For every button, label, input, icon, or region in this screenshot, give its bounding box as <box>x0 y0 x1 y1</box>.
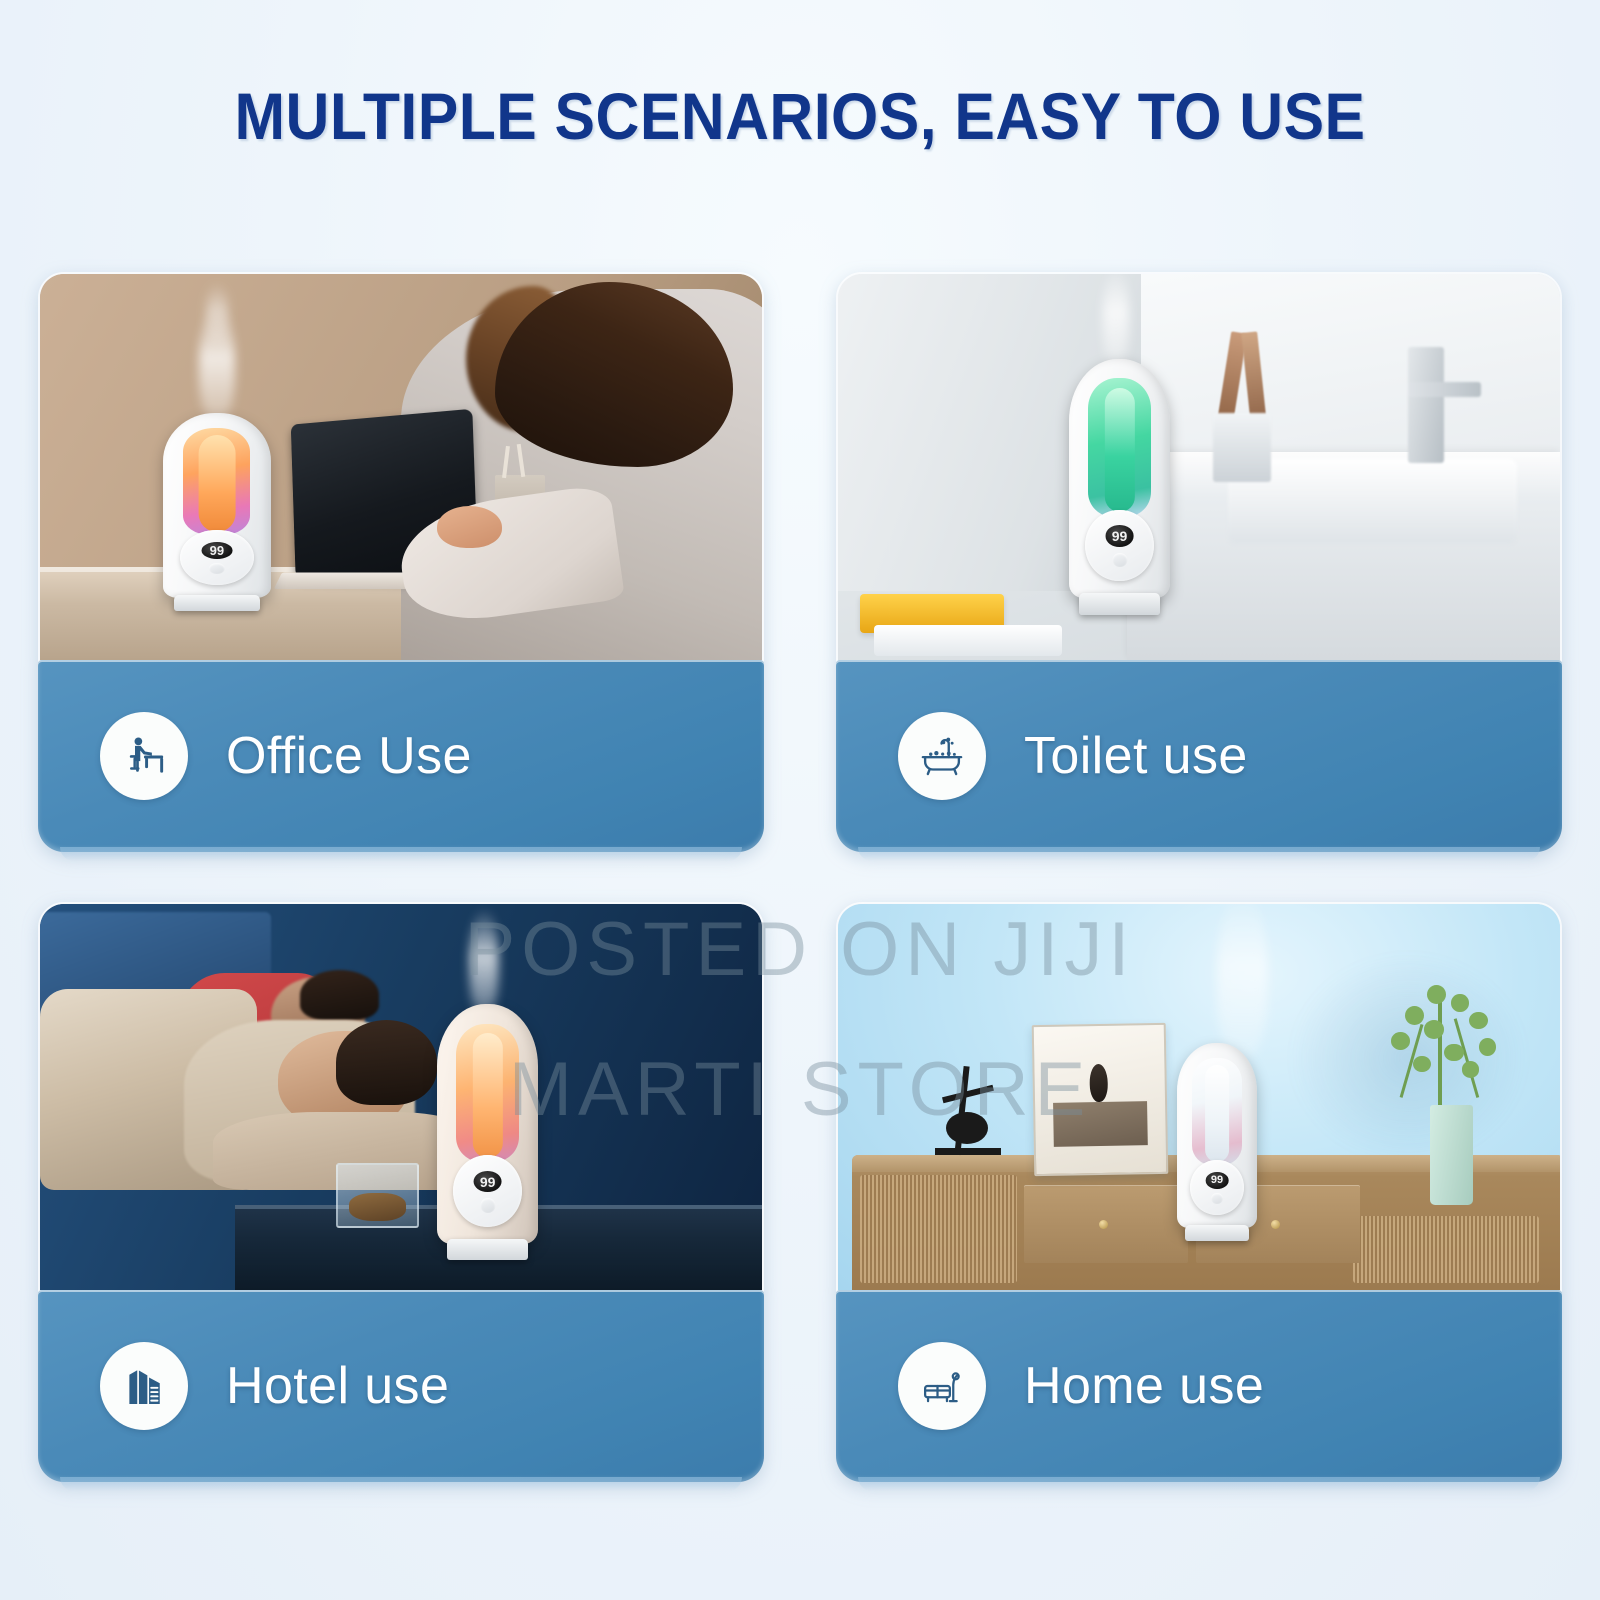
office-banner: Office Use <box>38 660 764 852</box>
person-at-desk-icon <box>100 712 188 800</box>
scenario-card-toilet[interactable]: 99 <box>836 272 1562 852</box>
power-button-icon <box>480 1198 495 1212</box>
decor-plant <box>1358 973 1531 1120</box>
bathtub-icon <box>898 712 986 800</box>
page-title: MULTIPLE SCENARIOS, EASY TO USE <box>64 78 1536 154</box>
humidifier-device: 99 <box>1177 1043 1256 1228</box>
office-scene-photo: 99 <box>38 272 764 662</box>
hotel-banner: Hotel use <box>38 1290 764 1482</box>
hotel-label: Hotel use <box>226 1356 449 1416</box>
hotel-building-icon <box>100 1342 188 1430</box>
humidity-display: 99 <box>1105 525 1134 547</box>
power-button-icon <box>1211 1193 1223 1204</box>
decor-picture-frame <box>1032 1022 1169 1175</box>
toilet-label: Toilet use <box>1024 726 1248 786</box>
humidifier-device: 99 <box>437 1004 538 1243</box>
toilet-scene-photo: 99 <box>836 272 1562 662</box>
humidifier-device: 99 <box>163 413 271 598</box>
sofa-lamp-icon <box>898 1342 986 1430</box>
power-button-icon <box>209 563 225 574</box>
home-banner: Home use <box>836 1290 1562 1482</box>
hotel-scene-photo: 99 <box>38 902 764 1292</box>
humidifier-device: 99 <box>1069 359 1170 598</box>
home-scene-photo: 99 <box>836 902 1562 1292</box>
scenario-card-home[interactable]: 99 <box>836 902 1562 1482</box>
scenario-card-grid: 99 <box>38 272 1562 1482</box>
power-button-icon <box>1112 553 1127 567</box>
scenario-card-office[interactable]: 99 <box>38 272 764 852</box>
scenario-card-hotel[interactable]: 99 Ho <box>38 902 764 1482</box>
humidity-display: 99 <box>201 542 232 559</box>
humidity-display: 99 <box>1206 1172 1229 1189</box>
decor-sculpture <box>932 1066 1004 1155</box>
home-label: Home use <box>1024 1356 1264 1416</box>
humidity-display: 99 <box>473 1171 502 1193</box>
toilet-banner: Toilet use <box>836 660 1562 852</box>
office-label: Office Use <box>226 726 472 786</box>
